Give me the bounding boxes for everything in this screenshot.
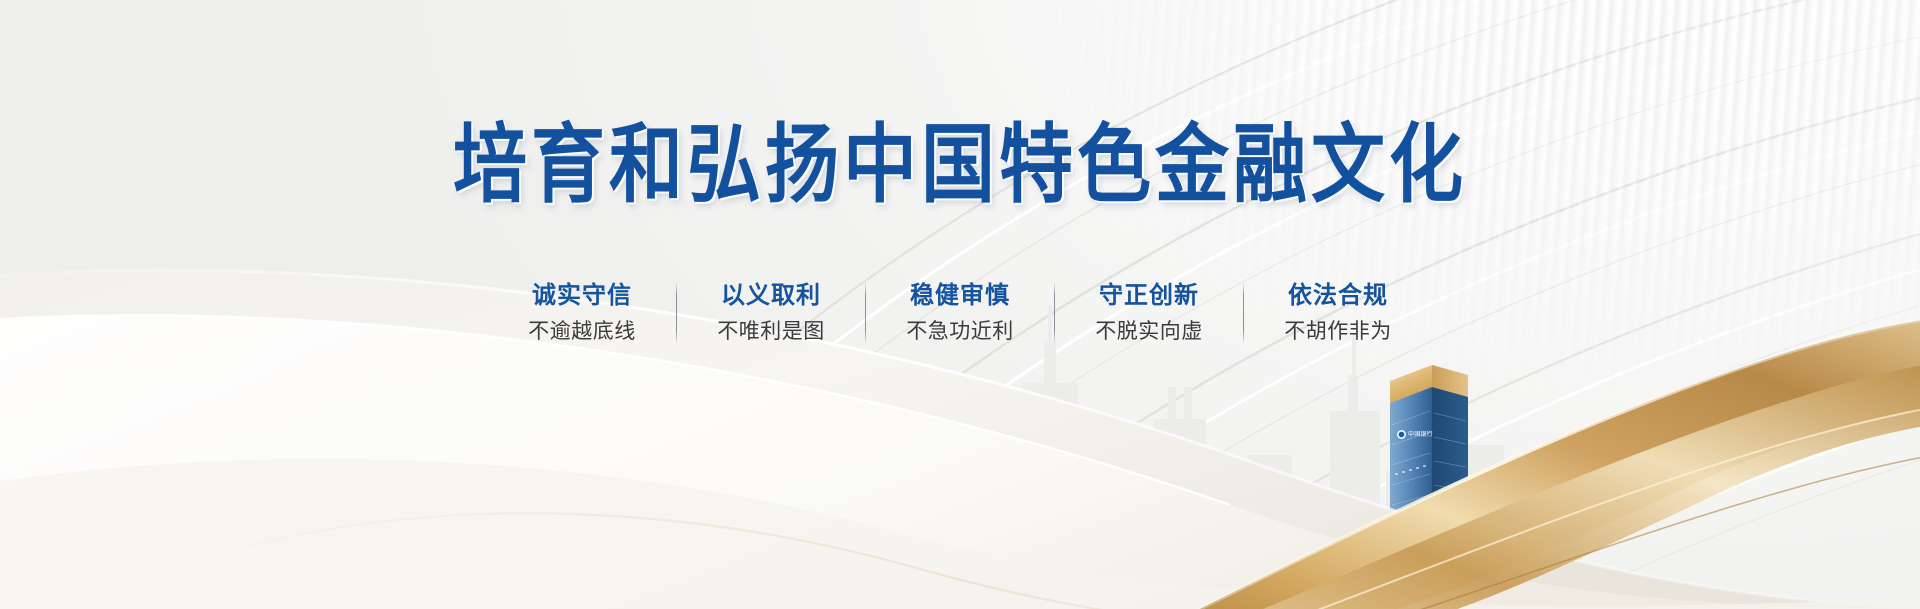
value-divider — [676, 282, 677, 344]
value-sub-text: 不急功近利 — [906, 316, 1014, 348]
finance-culture-banner: 中国银行 — [0, 0, 1920, 609]
value-main-text: 诚实守信 — [532, 280, 632, 312]
banner-content: 培育和弘扬中国特色金融文化 诚实守信 不逾越底线 以义取利 不唯利是图 稳健审慎… — [0, 0, 1920, 609]
value-sub-text: 不脱实向虚 — [1095, 316, 1203, 348]
core-values-list: 诚实守信 不逾越底线 以义取利 不唯利是图 稳健审慎 不急功近利 守正创新 不脱… — [0, 280, 1920, 347]
value-item: 依法合规 不胡作非为 — [1274, 280, 1402, 347]
value-main-text: 稳健审慎 — [910, 280, 1010, 312]
value-sub-text: 不逾越底线 — [528, 316, 636, 348]
value-item: 以义取利 不唯利是图 — [707, 280, 835, 347]
value-sub-text: 不唯利是图 — [717, 316, 825, 348]
value-main-text: 守正创新 — [1099, 280, 1199, 312]
value-main-text: 依法合规 — [1288, 280, 1388, 312]
value-item: 守正创新 不脱实向虚 — [1085, 280, 1213, 347]
page-title: 培育和弘扬中国特色金融文化 — [0, 122, 1920, 208]
value-item: 诚实守信 不逾越底线 — [518, 280, 646, 347]
value-item: 稳健审慎 不急功近利 — [896, 280, 1024, 347]
value-main-text: 以义取利 — [721, 280, 821, 312]
value-sub-text: 不胡作非为 — [1284, 316, 1392, 348]
value-divider — [865, 282, 866, 344]
value-divider — [1054, 282, 1055, 344]
value-divider — [1243, 282, 1244, 344]
